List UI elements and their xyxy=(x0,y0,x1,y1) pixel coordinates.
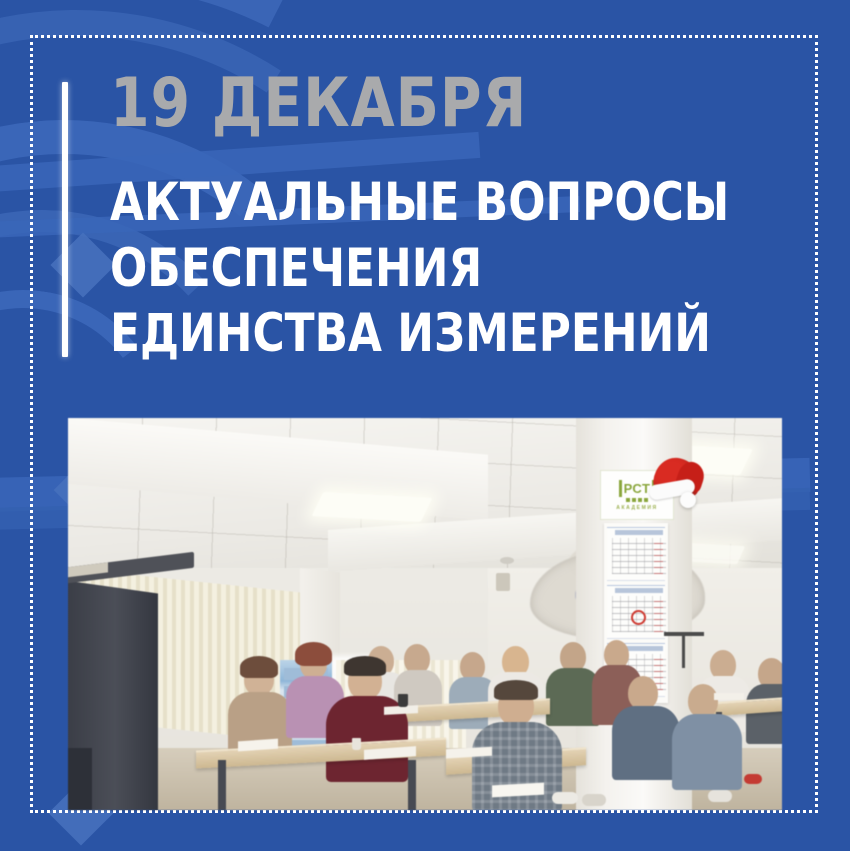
event-date: 19 ДЕКАБРЯ xyxy=(110,70,761,138)
santa-hat-icon xyxy=(648,458,706,512)
logo-bar-left xyxy=(619,480,622,497)
paper xyxy=(714,693,744,700)
calendar-date-marker xyxy=(631,610,646,625)
logo-text: РСТ xyxy=(624,482,651,495)
floor-item xyxy=(552,792,578,804)
event-announcement-poster: 19 ДЕКАБРЯ АКТУАЛЬНЫЕ ВОПРОСЫ ОБЕСПЕЧЕНИ… xyxy=(0,0,850,851)
vertical-accent-bar xyxy=(62,82,68,357)
floor-item xyxy=(582,794,606,806)
smoke-detector-icon xyxy=(500,557,514,564)
coat-rack-pole xyxy=(682,634,685,668)
classroom-photo: РСТ АКАДЕМИЯ xyxy=(68,418,782,810)
title-line-2: ОБЕСПЕЧЕНИЯ xyxy=(110,236,772,302)
logo-blocks xyxy=(626,498,648,502)
wall-switch-icon xyxy=(496,573,510,591)
title-line-3: ЕДИНСТВА ИЗМЕРЕНИЙ xyxy=(110,301,772,367)
title-line-1: АКТУАЛЬНЫЕ ВОПРОСЫ xyxy=(110,170,772,236)
floor-item xyxy=(708,790,732,802)
page-title: АКТУАЛЬНЫЕ ВОПРОСЫ ОБЕСПЕЧЕНИЯ ЕДИНСТВА … xyxy=(110,170,772,367)
desk-leg xyxy=(218,760,226,810)
coffee-cup xyxy=(398,694,408,707)
floor-item xyxy=(744,774,762,784)
cup xyxy=(352,738,361,750)
lectern-side xyxy=(68,748,92,810)
desk-leg xyxy=(408,760,416,810)
